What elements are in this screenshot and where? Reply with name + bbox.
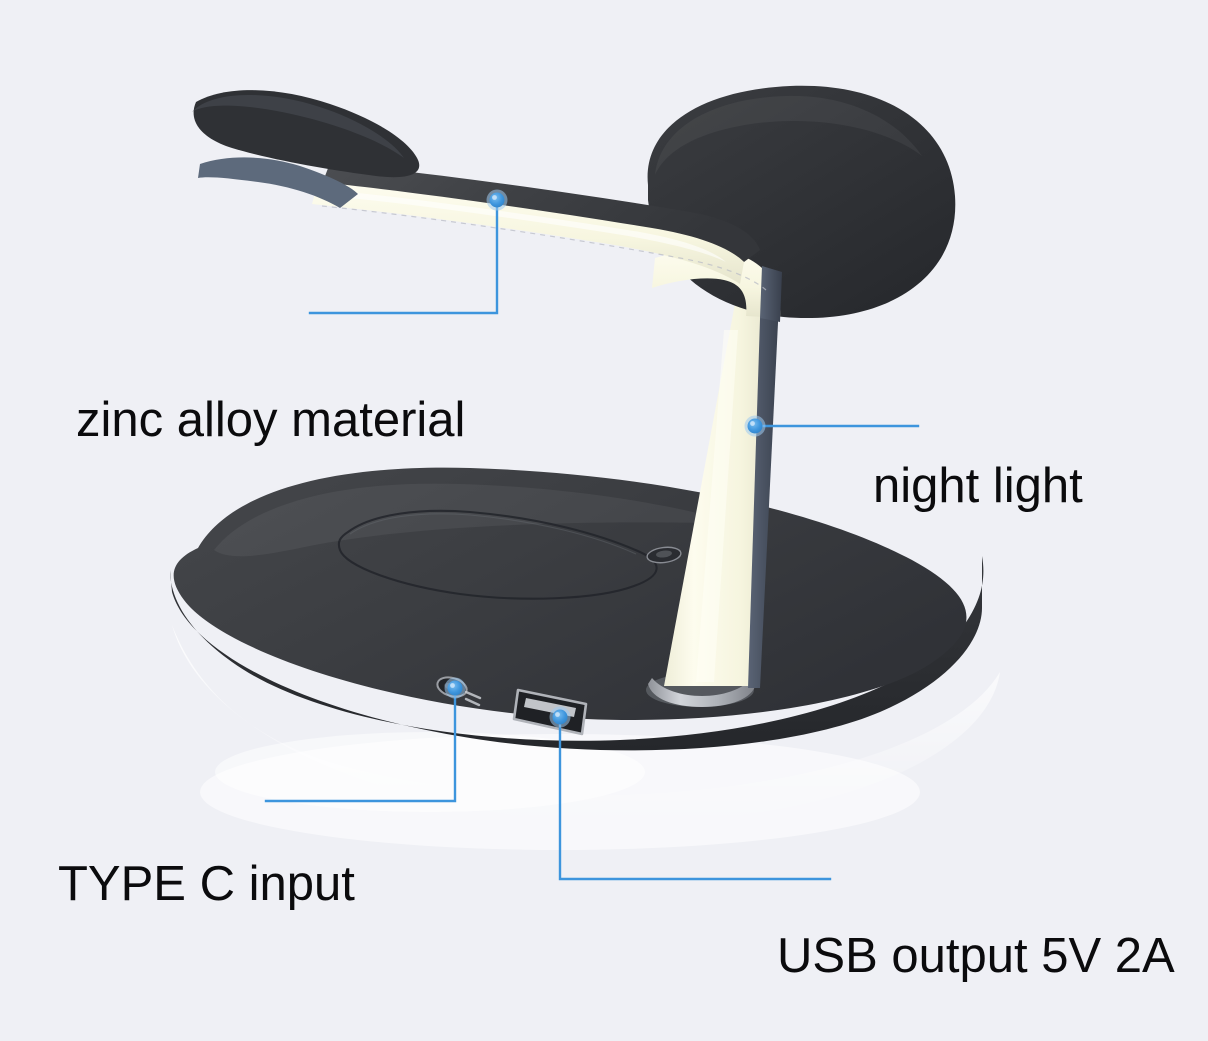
callout-dot-type-c — [445, 678, 466, 699]
callout-dot-zinc-alloy — [487, 190, 508, 211]
callout-dot-night-light — [745, 416, 766, 437]
product-diagram-stage: zinc alloy material night light TYPE C i… — [0, 0, 1208, 1041]
callout-dot-usb-output — [550, 707, 571, 728]
charging-base — [170, 468, 983, 751]
callout-label-usb-output: USB output 5V 2A — [777, 932, 1175, 981]
callout-label-type-c-input: TYPE C input — [58, 860, 355, 909]
callout-label-zinc-alloy: zinc alloy material — [76, 396, 465, 445]
callout-label-night-light: night light — [873, 462, 1083, 511]
lamp-head-shade — [648, 86, 956, 318]
